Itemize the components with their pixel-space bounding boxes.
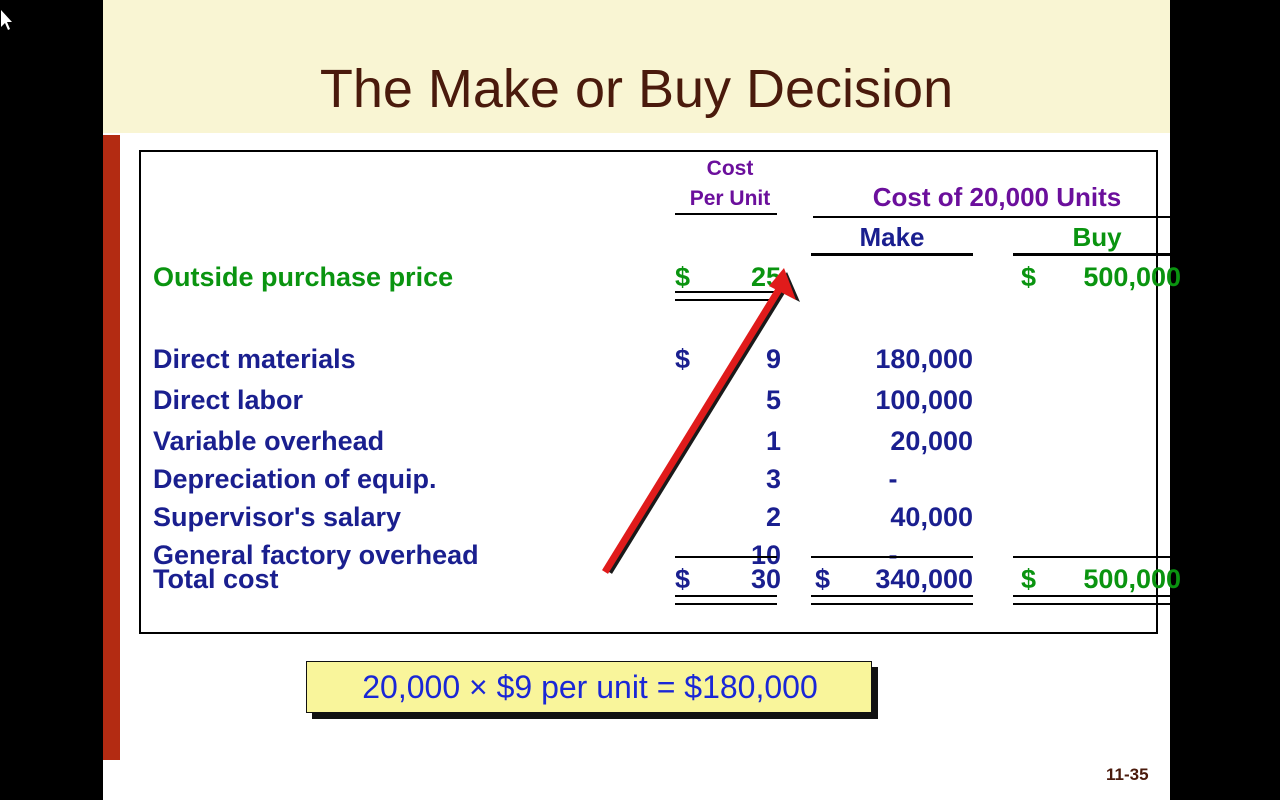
comparison-table: Cost Per Unit Cost of 20,000 Units Make … (141, 152, 1156, 632)
row-per-unit-value: 3 (701, 466, 781, 493)
slide-number: 11-35 (1106, 765, 1149, 785)
page-title: The Make or Buy Decision (103, 58, 1170, 120)
left-accent-bar (103, 135, 120, 760)
rule-buy-subtotal (1013, 556, 1181, 558)
callout-box: 20,000 × $9 per unit = $180,000 (306, 661, 872, 713)
row-per-unit-value: 2 (701, 504, 781, 531)
rule-buy-header (1013, 253, 1181, 256)
slide-canvas: The Make or Buy Decision Cost Per Unit C… (103, 0, 1170, 800)
row-make-value: 40,000 (813, 504, 973, 531)
total-buy-value: 500,000 (1041, 566, 1181, 593)
row-per-unit-value: 5 (701, 387, 781, 414)
row-per-unit-value: 9 (701, 346, 781, 373)
total-per-unit-value: 30 (701, 566, 781, 593)
row-make-value: - (813, 466, 973, 493)
total-make-value: 340,000 (835, 566, 973, 593)
rule-make-total-double (811, 595, 973, 605)
row-make-value: 20,000 (813, 428, 973, 455)
rule-outside-per-unit-double (675, 291, 777, 301)
row-label-depreciation-of-equip: Depreciation of equip. (153, 466, 437, 493)
callout-text: 20,000 × $9 per unit = $180,000 (307, 669, 873, 706)
rule-per-unit-subtotal (675, 556, 777, 558)
rule-per-unit-total-double (675, 595, 777, 605)
row-make-value: 100,000 (813, 387, 973, 414)
row-label-direct-materials: Direct materials (153, 346, 356, 373)
rule-make-header (811, 253, 973, 256)
rule-buy-total-double (1013, 595, 1181, 605)
header-cost-line1: Cost (675, 158, 785, 179)
rule-cost-of-units-header (813, 216, 1181, 218)
header-cost-of-units: Cost of 20,000 Units (813, 184, 1181, 210)
comparison-table-panel: Cost Per Unit Cost of 20,000 Units Make … (139, 150, 1158, 634)
row-make-value: 180,000 (813, 346, 973, 373)
row-per-unit-value: 1 (701, 428, 781, 455)
rule-make-subtotal (811, 556, 973, 558)
rule-per-unit-header (675, 213, 777, 215)
row-label-outside-purchase-price: Outside purchase price (153, 264, 453, 291)
header-make: Make (811, 224, 973, 250)
row-label-total-cost: Total cost (153, 566, 279, 593)
header-cost-line2: Per Unit (675, 188, 785, 209)
row-label-variable-overhead: Variable overhead (153, 428, 384, 455)
row-label-supervisors-salary: Supervisor's salary (153, 504, 401, 531)
row-label-direct-labor: Direct labor (153, 387, 303, 414)
mouse-cursor-icon (1, 10, 15, 32)
header-buy: Buy (1013, 224, 1181, 250)
outside-buy-value: 500,000 (1041, 264, 1181, 291)
outside-per-unit-value: 25 (701, 264, 781, 291)
